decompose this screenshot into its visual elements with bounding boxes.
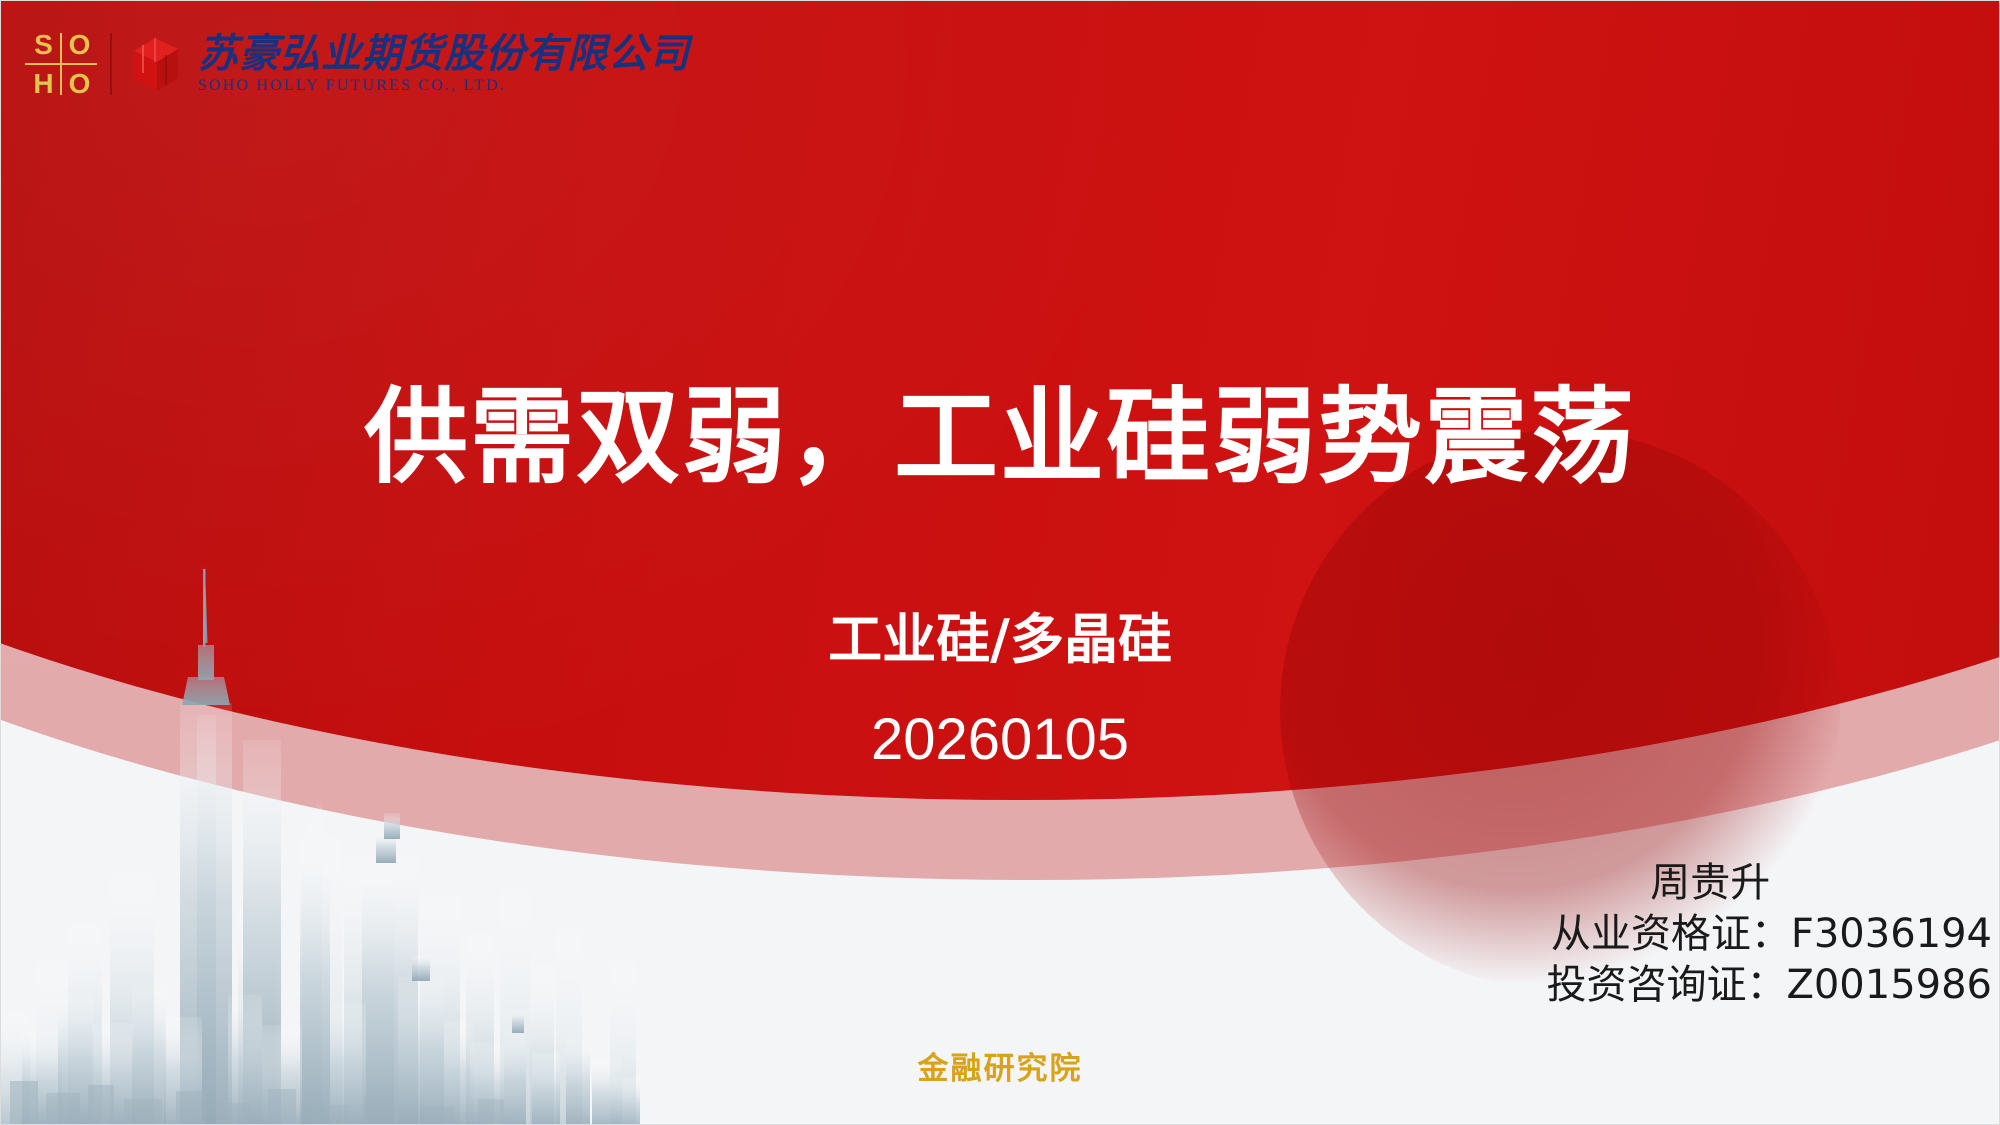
company-logo: S O H O 苏豪弘业期货股份有限公司 SOHO HOLLY FUTURES … <box>28 22 690 106</box>
soho-letter-o2: O <box>64 70 94 98</box>
logo-text-block: 苏豪弘业期货股份有限公司 SOHO HOLLY FUTURES CO., LTD… <box>198 33 690 95</box>
department-footer: 金融研究院 <box>0 1043 2000 1088</box>
soho-letter-s: S <box>28 31 58 59</box>
red-cube-icon <box>126 33 184 95</box>
slide-date: 20260105 <box>0 705 2000 775</box>
author-block: 周贵升 从业资格证：F3036194 投资咨询证：Z0015986 <box>1546 858 1992 1012</box>
soho-letter-o1: O <box>64 31 94 59</box>
logo-divider <box>110 33 112 95</box>
slide-title: 供需双弱，工业硅弱势震荡 <box>0 380 2000 494</box>
author-consulting-license: 投资咨询证：Z0015986 <box>1546 960 1992 1011</box>
soho-letter-h: H <box>28 70 58 98</box>
author-practice-license: 从业资格证：F3036194 <box>1546 909 1992 960</box>
slide-subtitle: 工业硅/多晶硅 <box>0 608 2000 673</box>
company-name-en: SOHO HOLLY FUTURES CO., LTD. <box>198 77 690 95</box>
author-name: 周贵升 <box>1546 858 1992 909</box>
soho-monogram-icon: S O H O <box>28 27 94 101</box>
presentation-slide: S O H O 苏豪弘业期货股份有限公司 SOHO HOLLY FUTURES … <box>0 0 2000 1125</box>
company-name-cn: 苏豪弘业期货股份有限公司 <box>198 33 690 75</box>
